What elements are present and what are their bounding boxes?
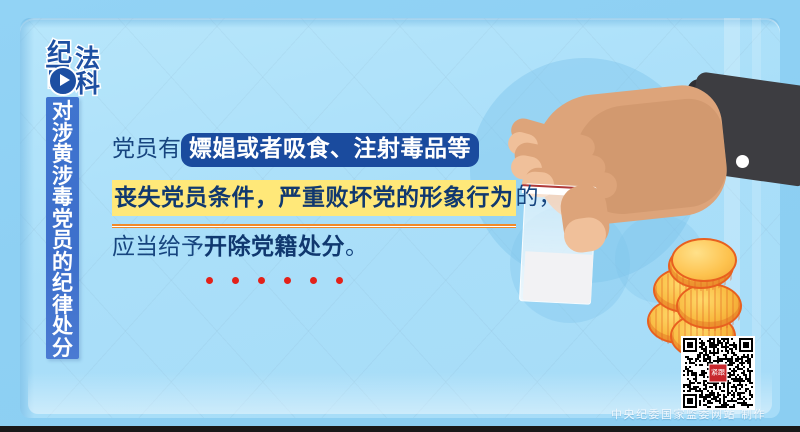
emphasis-dot [206, 277, 213, 284]
emphasis-dot [232, 277, 239, 284]
banner-char-1: 涉 [52, 123, 73, 145]
line1-highlight-pill: 嫖娼或者吸食、注射毒品等 [181, 133, 479, 167]
emphasis-dot [336, 277, 343, 284]
qr-code[interactable]: 紧跟 [681, 336, 755, 410]
qr-center-logo-mark: 紧跟 [710, 365, 727, 382]
banner-char-7: 的 [52, 252, 73, 274]
emphasis-dot [310, 277, 317, 284]
text-line-3: 应当给予开除党籍处分。 [112, 222, 532, 272]
panel-left-shadow [20, 18, 34, 418]
banner-char-10: 处 [52, 316, 73, 338]
banner-char-3: 涉 [52, 166, 73, 188]
banner-char-0: 对 [52, 101, 73, 123]
brand-logo[interactable]: 纪 法 百 科 [40, 40, 112, 100]
banner-char-2: 黄 [52, 144, 73, 166]
coin-top-face [671, 238, 737, 282]
line2-highlight: 丧失党员条件，严重败坏党的形象行为 [112, 180, 516, 216]
line3-prefix: 应当给予 [112, 234, 204, 260]
banner-char-4: 毒 [52, 187, 73, 209]
banner-char-5: 党 [52, 209, 73, 231]
emphasis-dot [258, 277, 265, 284]
play-triangle-icon [60, 74, 70, 86]
body-text-block: 党员有嫖娼或者吸食、注射毒品等 丧失党员条件，严重败坏党的形象行为的， 应当给予… [112, 126, 532, 272]
line3-suffix: 。 [345, 234, 368, 260]
vertical-title-banner: 对涉黄涉毒党员的纪律处分 [46, 97, 79, 359]
emphasis-dot [284, 277, 291, 284]
banner-char-11: 分 [52, 338, 73, 360]
line2-suffix: 的， [516, 184, 562, 210]
cuff-button [736, 155, 749, 168]
logo-char-ke: 科 [75, 71, 100, 96]
logo-char-fa: 法 [75, 46, 100, 71]
baggie-contents [523, 251, 593, 303]
line3-emphasis: 开除党籍处分 [204, 234, 345, 260]
credit-line: 中央纪委国家监委网站 制作 [611, 406, 766, 422]
line1-prefix: 党员有 [112, 136, 181, 162]
line2-highlight-wrap: 丧失党员条件，严重败坏党的形象行为 [112, 173, 516, 223]
emphasis-dots [206, 277, 343, 284]
panel-top-shadow [20, 18, 780, 28]
banner-char-8: 纪 [52, 273, 73, 295]
text-line-2: 丧失党员条件，严重败坏党的形象行为的， [112, 172, 532, 222]
banner-char-9: 律 [52, 295, 73, 317]
text-line-1: 党员有嫖娼或者吸食、注射毒品等 [112, 126, 532, 172]
banner-char-6: 员 [52, 230, 73, 252]
line3-emphasis-wrap: 开除党籍处分 [204, 222, 345, 272]
qr-center-logo: 紧跟 [709, 364, 728, 383]
infographic-card: 纪 法 百 科 对涉黄涉毒党员的纪律处分 党员有嫖娼或者吸食、注射毒品等 丧失党… [0, 0, 800, 432]
bottom-strip [0, 426, 800, 432]
